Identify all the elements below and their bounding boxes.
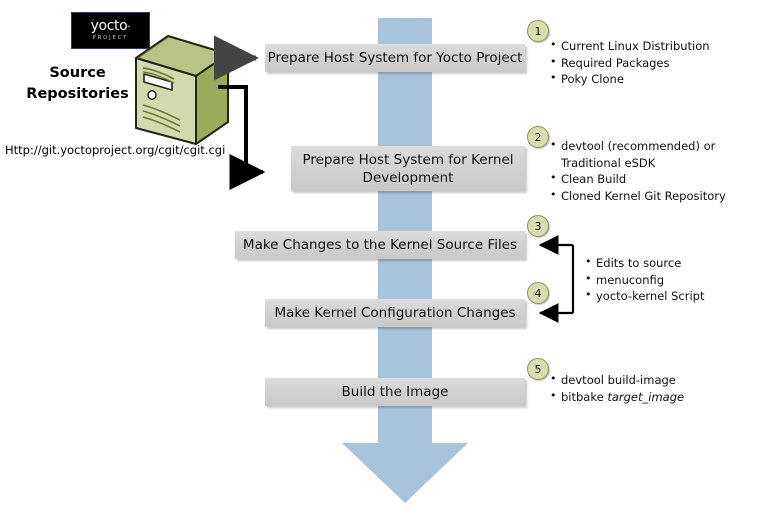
step-5-note-2: bitbake [561, 390, 607, 404]
step-2-note-1-continuation: Traditional eSDK [561, 155, 765, 172]
shared-note-2: menuconfig [596, 273, 664, 287]
step-1-box[interactable]: Prepare Host System for Yocto Project [265, 44, 525, 72]
list-item: Required Packages [550, 55, 765, 72]
step-5-number: 5 [535, 363, 542, 376]
step-1-note-1: Current Linux Distribution [561, 39, 710, 53]
list-item: yocto-kernel Script [585, 288, 769, 305]
step-4-box[interactable]: Make Kernel Configuration Changes [265, 299, 525, 327]
step-1-number: 1 [535, 25, 542, 38]
diagram-canvas: yocto· PROJECT Source Repositories Http:… [0, 0, 769, 517]
step-4-number: 4 [535, 287, 542, 300]
step-5-notes: devtool build-image bitbake target_image [550, 372, 765, 405]
shared-note-3: yocto-kernel Script [596, 289, 705, 303]
arrow-source-to-step2 [218, 87, 263, 172]
step-3-box[interactable]: Make Changes to the Kernel Source Files [235, 231, 525, 259]
step-2-note-3: Cloned Kernel Git Repository [561, 189, 726, 203]
step-2-box-label-line2: Development [363, 170, 454, 186]
step-5-number-badge: 5 [527, 358, 549, 380]
step-2-box[interactable]: Prepare Host System for Kernel Developme… [291, 146, 525, 191]
step-2-box-label: Prepare Host System for Kernel Developme… [302, 151, 513, 187]
step-5-note-2-target: target_image [607, 390, 684, 404]
list-item: Current Linux Distribution [550, 38, 765, 55]
step-3-box-label: Make Changes to the Kernel Source Files [243, 236, 517, 254]
step-1-number-badge: 1 [527, 20, 549, 42]
list-item: menuconfig [585, 272, 769, 289]
list-item: Cloned Kernel Git Repository [550, 188, 765, 205]
step-3-number-badge: 3 [527, 215, 549, 237]
step-5-box[interactable]: Build the Image [265, 378, 525, 406]
step-2-note-2: Clean Build [561, 172, 626, 186]
list-item: Edits to source [585, 255, 769, 272]
list-item: devtool (recommended) or Traditional eSD… [550, 138, 765, 171]
step-3-number: 3 [535, 220, 542, 233]
step-4-box-label: Make Kernel Configuration Changes [274, 304, 515, 322]
step-1-note-3: Poky Clone [561, 72, 624, 86]
arrow-notes-to-step3-step4 [540, 245, 573, 313]
step-1-box-label: Prepare Host System for Yocto Project [268, 49, 523, 67]
step-2-note-1: devtool (recommended) or [561, 139, 715, 153]
step-2-box-label-line1: Prepare Host System for Kernel [302, 152, 513, 168]
step-2-number: 2 [535, 131, 542, 144]
step-1-notes: Current Linux Distribution Required Pack… [550, 38, 765, 88]
list-item: bitbake target_image [550, 389, 765, 406]
shared-note-1: Edits to source [596, 256, 681, 270]
step-2-notes: devtool (recommended) or Traditional eSD… [550, 138, 765, 204]
step-4-number-badge: 4 [527, 282, 549, 304]
step-2-number-badge: 2 [527, 126, 549, 148]
step-3-4-shared-notes: Edits to source menuconfig yocto-kernel … [585, 255, 769, 305]
step-5-note-1: devtool build-image [561, 373, 676, 387]
step-5-box-label: Build the Image [342, 383, 449, 401]
list-item: devtool build-image [550, 372, 765, 389]
step-1-note-2: Required Packages [561, 56, 670, 70]
list-item: Poky Clone [550, 71, 765, 88]
list-item: Clean Build [550, 171, 765, 188]
